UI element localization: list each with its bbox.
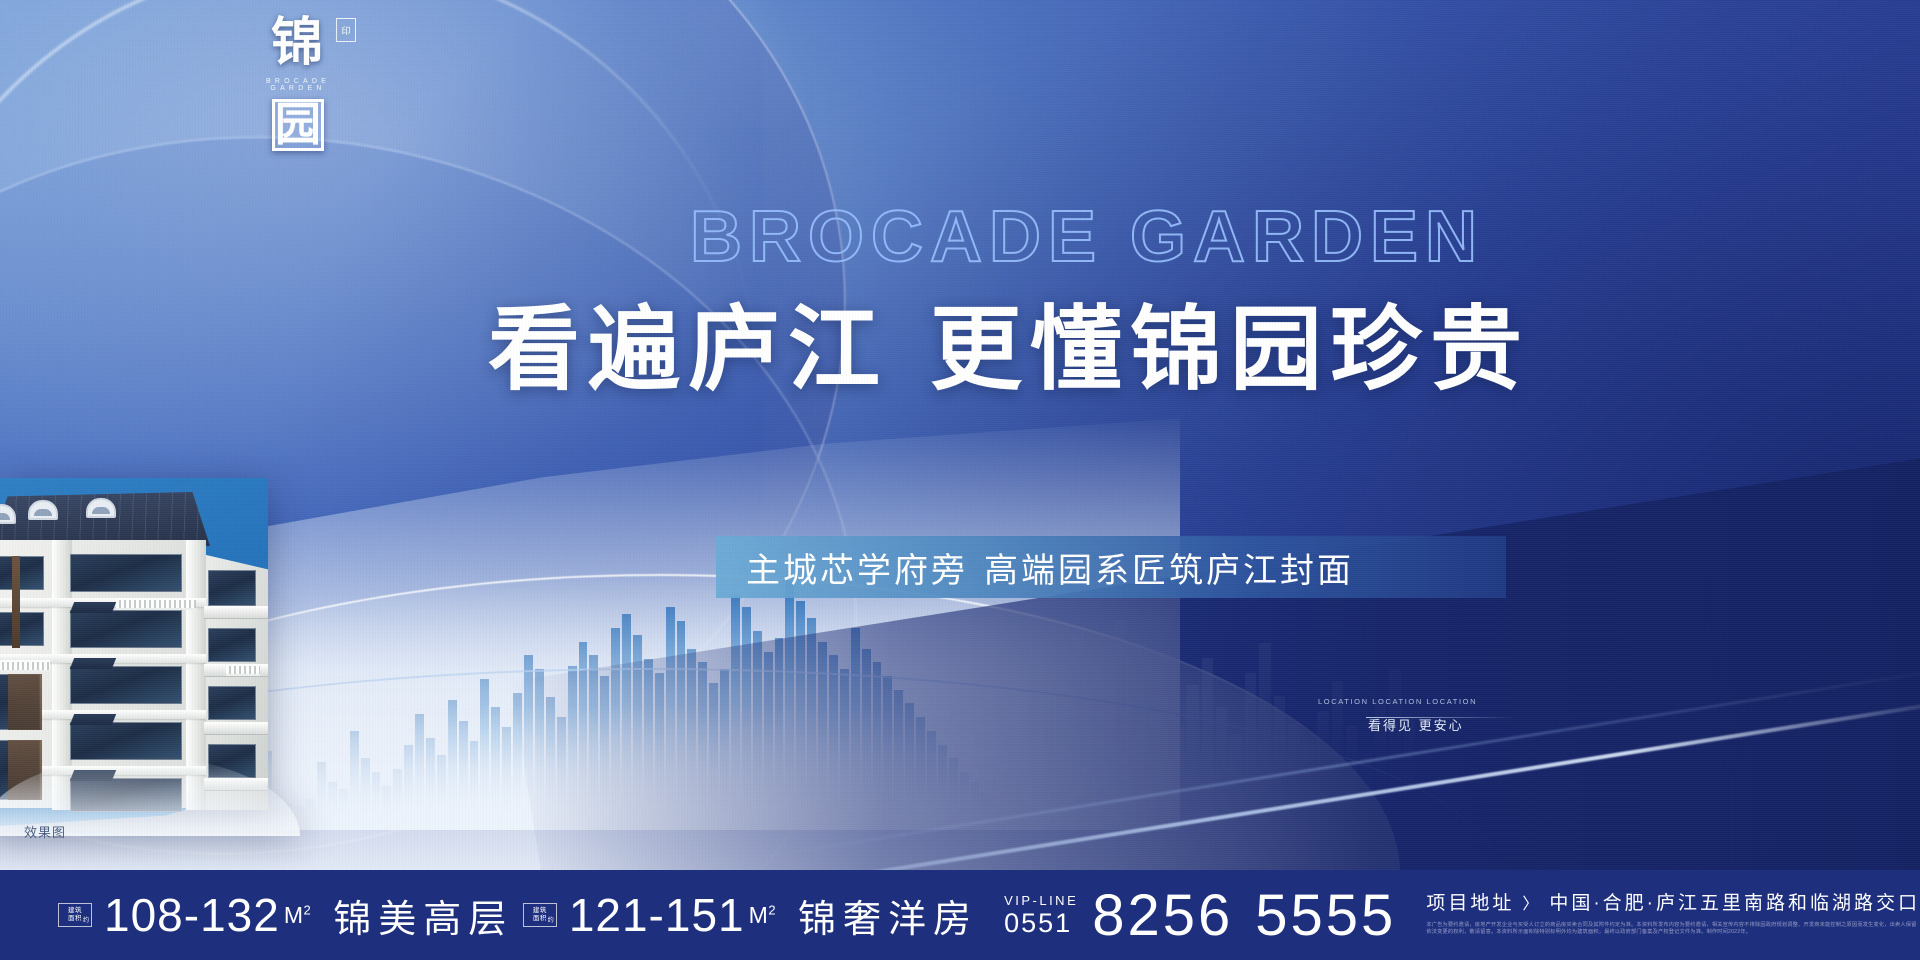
chevron-right-icon: 〉 [1522,896,1541,913]
building-window [208,628,256,662]
building-window [0,612,44,646]
offer1-unit-letter: M [284,902,304,928]
sales-phone-number[interactable]: 82565555 [1092,882,1396,949]
location-tagline-english: LOCATION LOCATION LOCATION [1318,697,1477,706]
building-window [70,610,182,648]
headline-chinese: 看遍庐江更懂锦园珍贵 [488,275,1530,408]
offer2-area-unit: M2 [749,902,776,929]
building-window [70,666,182,704]
vip-line-areacode: 0551 [1004,909,1078,937]
area-tag-line2: 面积 [68,915,82,923]
building-balustrade [226,664,260,676]
bottom-info-bar: 建筑 面积 约 108-132 M2 锦美高层 建筑 面积 约 121-151 … [0,870,1920,960]
subtitle-text: 主城芯学府旁高端园系匠筑庐江封面 [716,543,1354,592]
poster-canvas: 锦 BROCADE GARDEN 园 印 BROCADE GARDEN 看遍庐江… [0,0,1920,960]
subtitle-banner: 主城芯学府旁高端园系匠筑庐江封面 [716,536,1506,598]
area-tag-line1: 建筑 [533,907,547,915]
building-trim [12,556,20,648]
area-tag-approx: 约 [548,915,554,924]
building-balustrade [116,598,196,610]
phone-part1: 8256 [1092,883,1233,948]
vip-line-label: VIP-LINE [1004,893,1078,909]
brand-logo[interactable]: 锦 BROCADE GARDEN 园 印 [238,16,358,162]
location-tagline-block: LOCATION LOCATION LOCATION 看得见 更安心 [1318,697,1477,734]
offer2-product-name: 锦奢洋房 [798,888,978,943]
offer1-unit-sup: 2 [304,902,312,917]
area-tag-line2: 面积 [533,915,547,923]
headline-chinese-part1: 看遍庐江 [488,299,888,401]
project-address-block: 项目地址〉中国·合肥·庐江五里南路和临湖路交口 本广告为要约邀请，房地产开发企业… [1426,888,1920,936]
building-balustrade [0,660,50,672]
offer2-unit-sup: 2 [768,902,776,917]
building-awning [70,602,116,613]
offer1-product-name: 锦美高层 [333,888,513,943]
building-window [208,570,256,606]
building-window [208,686,256,720]
headline-chinese-part2: 更懂锦园珍贵 [930,299,1530,401]
area-tag-approx: 约 [83,915,89,924]
address-value: 中国·合肥·庐江五里南路和临湖路交口 [1549,893,1920,914]
subtitle-part1: 主城芯学府旁 [746,552,968,590]
building-balcony-screen [8,674,42,730]
building-balcony [204,722,268,735]
offer1-area-unit: M2 [284,902,311,929]
location-tagline-rule [1366,717,1516,718]
building-dormer-window [28,500,58,520]
phone-part2: 5555 [1255,883,1396,948]
offer2-unit-letter: M [749,902,769,928]
bottom-bar-content: 建筑 面积 约 108-132 M2 锦美高层 建筑 面积 约 121-151 … [0,882,1920,949]
legal-disclaimer: 本广告为要约邀请，房地产开发企业与买受人订立的商品房买卖合同及其附件约定为准。本… [1426,922,1920,936]
area-tag-icon-2: 建筑 面积 约 [523,903,557,927]
building-dormer-window [86,498,116,518]
building-awning [70,714,116,725]
building-window [70,722,182,760]
project-address-line: 项目地址〉中国·合肥·庐江五里南路和临湖路交口 [1426,888,1920,915]
headline-english: BROCADE GARDEN [690,196,1484,278]
brand-char-yuan: 园 [272,99,324,151]
address-label: 项目地址 [1426,893,1514,914]
offer1-area-range: 108-132 [104,888,280,942]
building-window [0,556,44,590]
residential-building-render [0,478,268,826]
building-awning [70,658,116,669]
brand-seal-icon: 印 [336,18,356,42]
area-tag-icon-1: 建筑 面积 约 [58,903,92,927]
offer2-area-range: 121-151 [569,888,745,942]
render-disclaimer-note: 效果图 [24,822,66,841]
building-window [70,554,182,592]
brand-english-small: BROCADE GARDEN [238,78,358,92]
subtitle-part2: 高端园系匠筑庐江封面 [984,552,1354,590]
area-tag-line1: 建筑 [68,907,82,915]
vip-line-block[interactable]: VIP-LINE 0551 [1004,893,1078,937]
building-balcony [204,606,268,619]
